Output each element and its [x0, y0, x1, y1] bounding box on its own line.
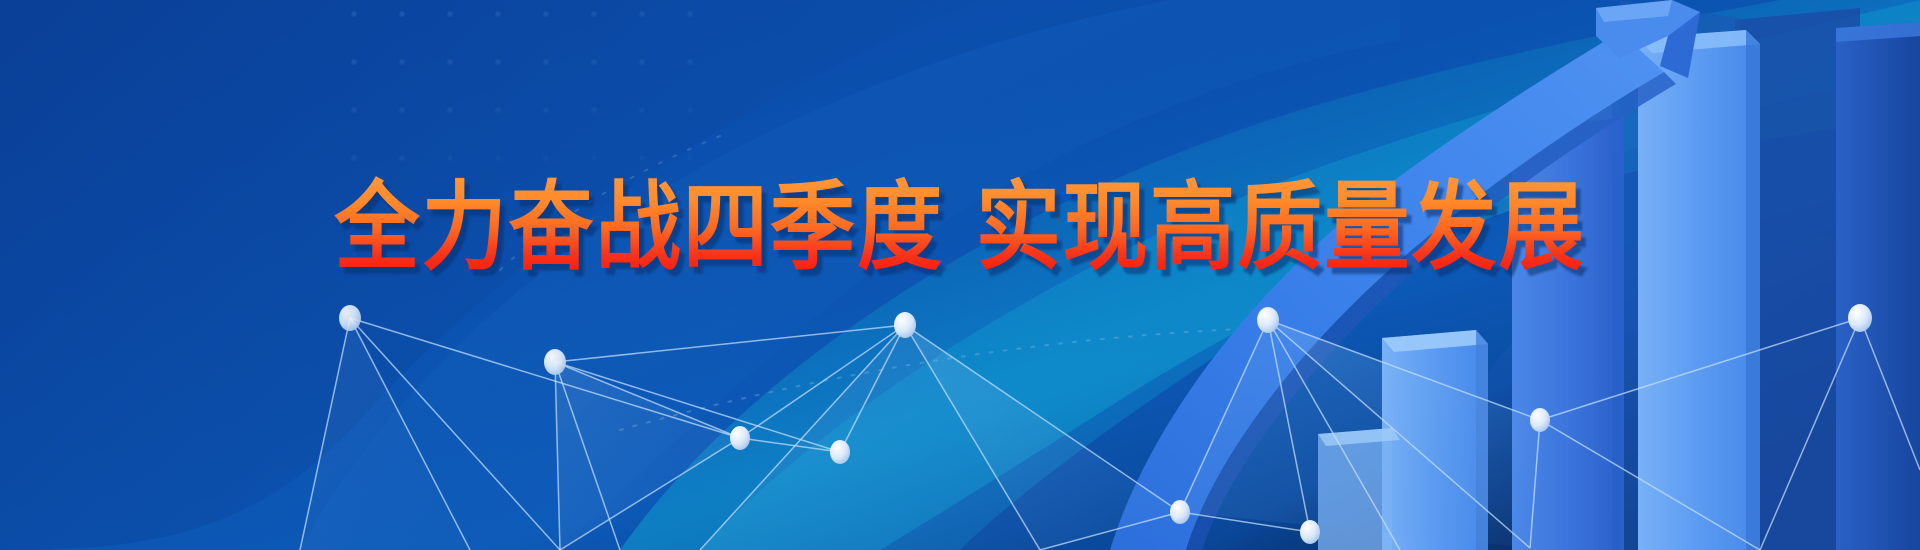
net-node	[1300, 520, 1320, 544]
net-node	[1848, 304, 1872, 332]
net-node	[339, 305, 361, 331]
network-constellation-layer	[0, 0, 1920, 550]
net-node	[1530, 408, 1550, 432]
net-node	[894, 312, 916, 338]
net-node	[730, 426, 750, 450]
net-node	[544, 349, 566, 375]
promotional-banner: 全力奋战四季度 实现高质量发展 全力奋战四季度 实现高质量发展	[0, 0, 1920, 550]
net-node	[830, 440, 850, 464]
net-node	[1170, 500, 1190, 524]
net-node	[1257, 307, 1279, 333]
